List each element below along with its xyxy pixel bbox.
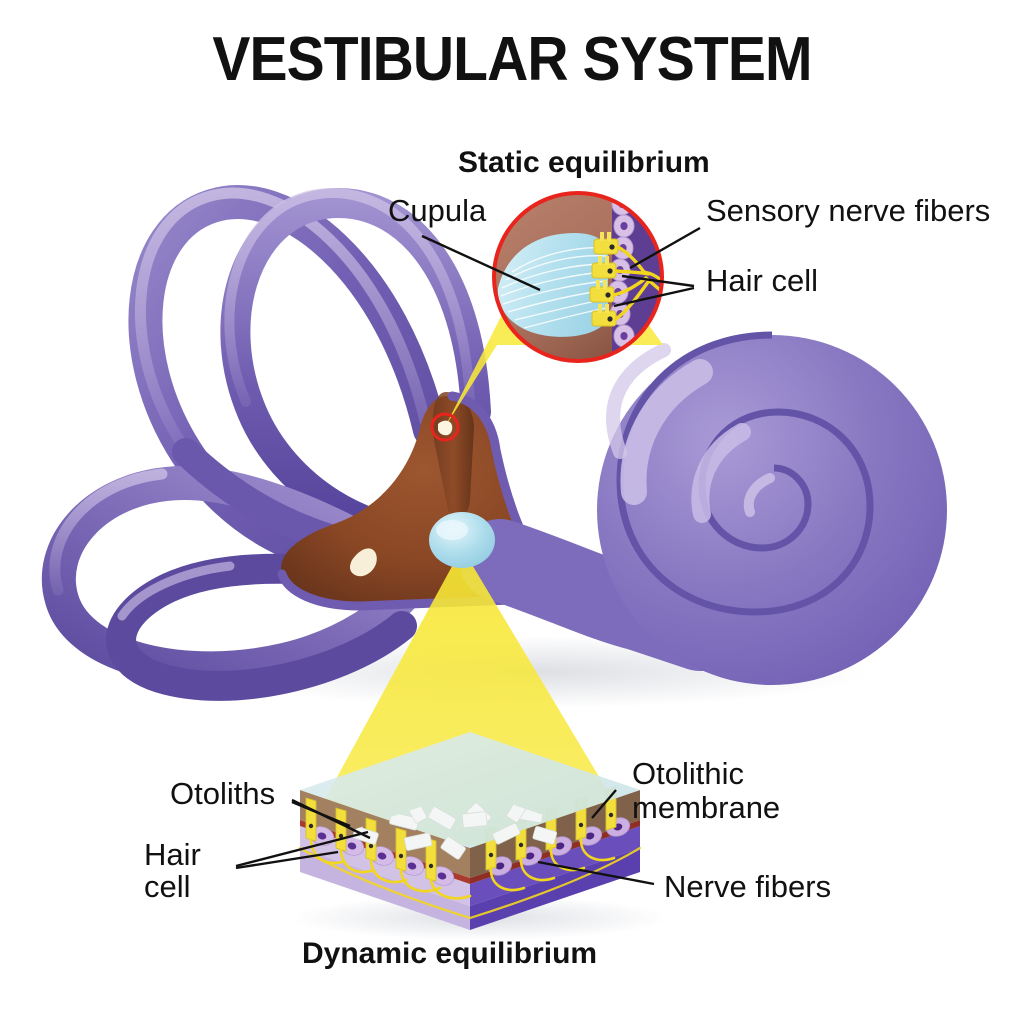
label-otoliths: Otoliths — [170, 777, 275, 810]
label-otolithic-membrane-line2: membrane — [632, 791, 780, 824]
label-otolithic-membrane-line1: Otolithic — [632, 757, 744, 790]
label-hair-cell-static: Hair cell — [706, 264, 818, 297]
semicircular-canals — [55, 193, 476, 686]
label-hair-cell-dynamic-line2: cell — [144, 870, 191, 903]
cochlea — [500, 335, 947, 685]
label-hair-cell-dynamic-line1: Hair — [144, 838, 201, 871]
macula-marker-gloss — [436, 520, 468, 540]
static-equilibrium-heading: Static equilibrium — [458, 146, 710, 180]
label-cupula: Cupula — [388, 194, 486, 227]
macula-callout-marker — [429, 512, 495, 568]
label-nerve-fibers: Nerve fibers — [664, 870, 831, 903]
cupula-marker-crescent — [438, 421, 452, 436]
label-sensory-nerve-fibers: Sensory nerve fibers — [706, 194, 990, 227]
illustration-canvas: VESTIBULAR SYSTEM — [0, 0, 1024, 1012]
dynamic-equilibrium-heading: Dynamic equilibrium — [302, 937, 597, 971]
